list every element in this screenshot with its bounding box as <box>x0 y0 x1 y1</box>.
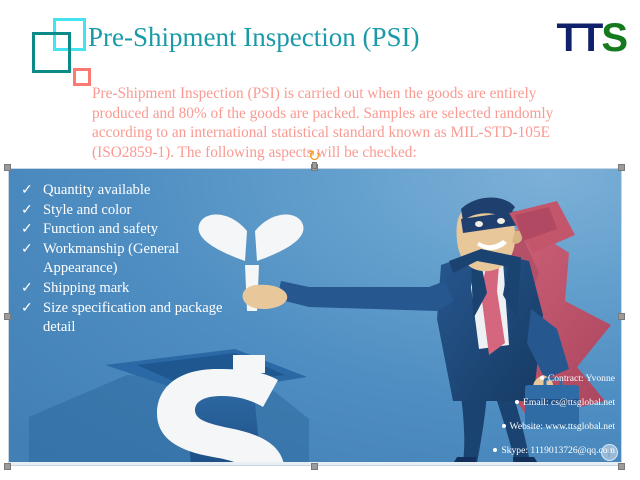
check-icon: ✓ <box>21 181 43 201</box>
bullet-dot-icon <box>502 424 506 428</box>
contact-line: Email: cs@ttsglobal.net <box>493 397 615 408</box>
list-item-label: Function and safety <box>43 220 231 240</box>
check-icon: ✓ <box>21 220 43 240</box>
resize-handle-bottom-right[interactable] <box>618 463 625 470</box>
list-item-label: Workmanship (General Appearance) <box>43 240 231 279</box>
check-icon: ✓ <box>21 279 43 299</box>
contact-text: Website: www.ttsglobal.net <box>510 421 615 432</box>
list-item: ✓ Size specification and package detail <box>21 299 231 338</box>
bullet-dot-icon <box>540 376 544 380</box>
logo-text-tt: TT <box>556 16 601 60</box>
bullet-dot-icon <box>493 448 497 452</box>
list-item: ✓ Quantity available <box>21 181 231 201</box>
contact-text: Email: cs@ttsglobal.net <box>523 397 615 408</box>
resize-handle-middle-left[interactable] <box>4 313 11 320</box>
tts-logo: TTS <box>556 18 626 58</box>
resize-handle-bottom-center[interactable] <box>311 463 318 470</box>
check-icon: ✓ <box>21 299 43 319</box>
watermark-badge-icon <box>601 444 618 461</box>
contact-line: Skype: 1119013726@qq.com <box>493 445 615 456</box>
contact-text: Skype: 1119013726@qq.com <box>501 445 615 456</box>
list-item-label: Size specification and package detail <box>43 299 231 338</box>
list-item: ✓ Workmanship (General Appearance) <box>21 240 231 279</box>
check-icon: ✓ <box>21 240 43 260</box>
list-item-label: Style and color <box>43 201 231 221</box>
resize-handle-top-right[interactable] <box>618 164 625 171</box>
slide-picture[interactable]: ✓ Quantity available ✓ Style and color ✓… <box>8 168 622 466</box>
list-item: ✓ Function and safety <box>21 220 231 240</box>
list-item-label: Shipping mark <box>43 279 231 299</box>
list-item-label: Quantity available <box>43 181 231 201</box>
intro-paragraph: Pre-Shipment Inspection (PSI) is carried… <box>92 84 574 162</box>
resize-handle-bottom-left[interactable] <box>4 463 11 470</box>
red-square-icon <box>73 68 91 86</box>
rotate-icon[interactable]: ↻ <box>308 150 321 163</box>
list-item: ✓ Style and color <box>21 201 231 221</box>
contact-text: Contract: Yvonne <box>548 373 615 384</box>
checklist: ✓ Quantity available ✓ Style and color ✓… <box>21 181 231 338</box>
resize-handle-top-left[interactable] <box>4 164 11 171</box>
teal-square-icon <box>32 32 71 73</box>
logo-text-s: S <box>601 16 626 60</box>
list-item: ✓ Shipping mark <box>21 279 231 299</box>
contact-info: Contract: Yvonne Email: cs@ttsglobal.net… <box>493 373 615 459</box>
contact-line: Website: www.ttsglobal.net <box>493 421 615 432</box>
slide-canvas: Pre-Shipment Inspection (PSI) TTS Pre-Sh… <box>0 0 640 480</box>
page-title: Pre-Shipment Inspection (PSI) <box>88 20 419 54</box>
contact-line: Contract: Yvonne <box>493 373 615 384</box>
check-icon: ✓ <box>21 201 43 221</box>
bullet-dot-icon <box>515 400 519 404</box>
resize-handle-middle-right[interactable] <box>618 313 625 320</box>
